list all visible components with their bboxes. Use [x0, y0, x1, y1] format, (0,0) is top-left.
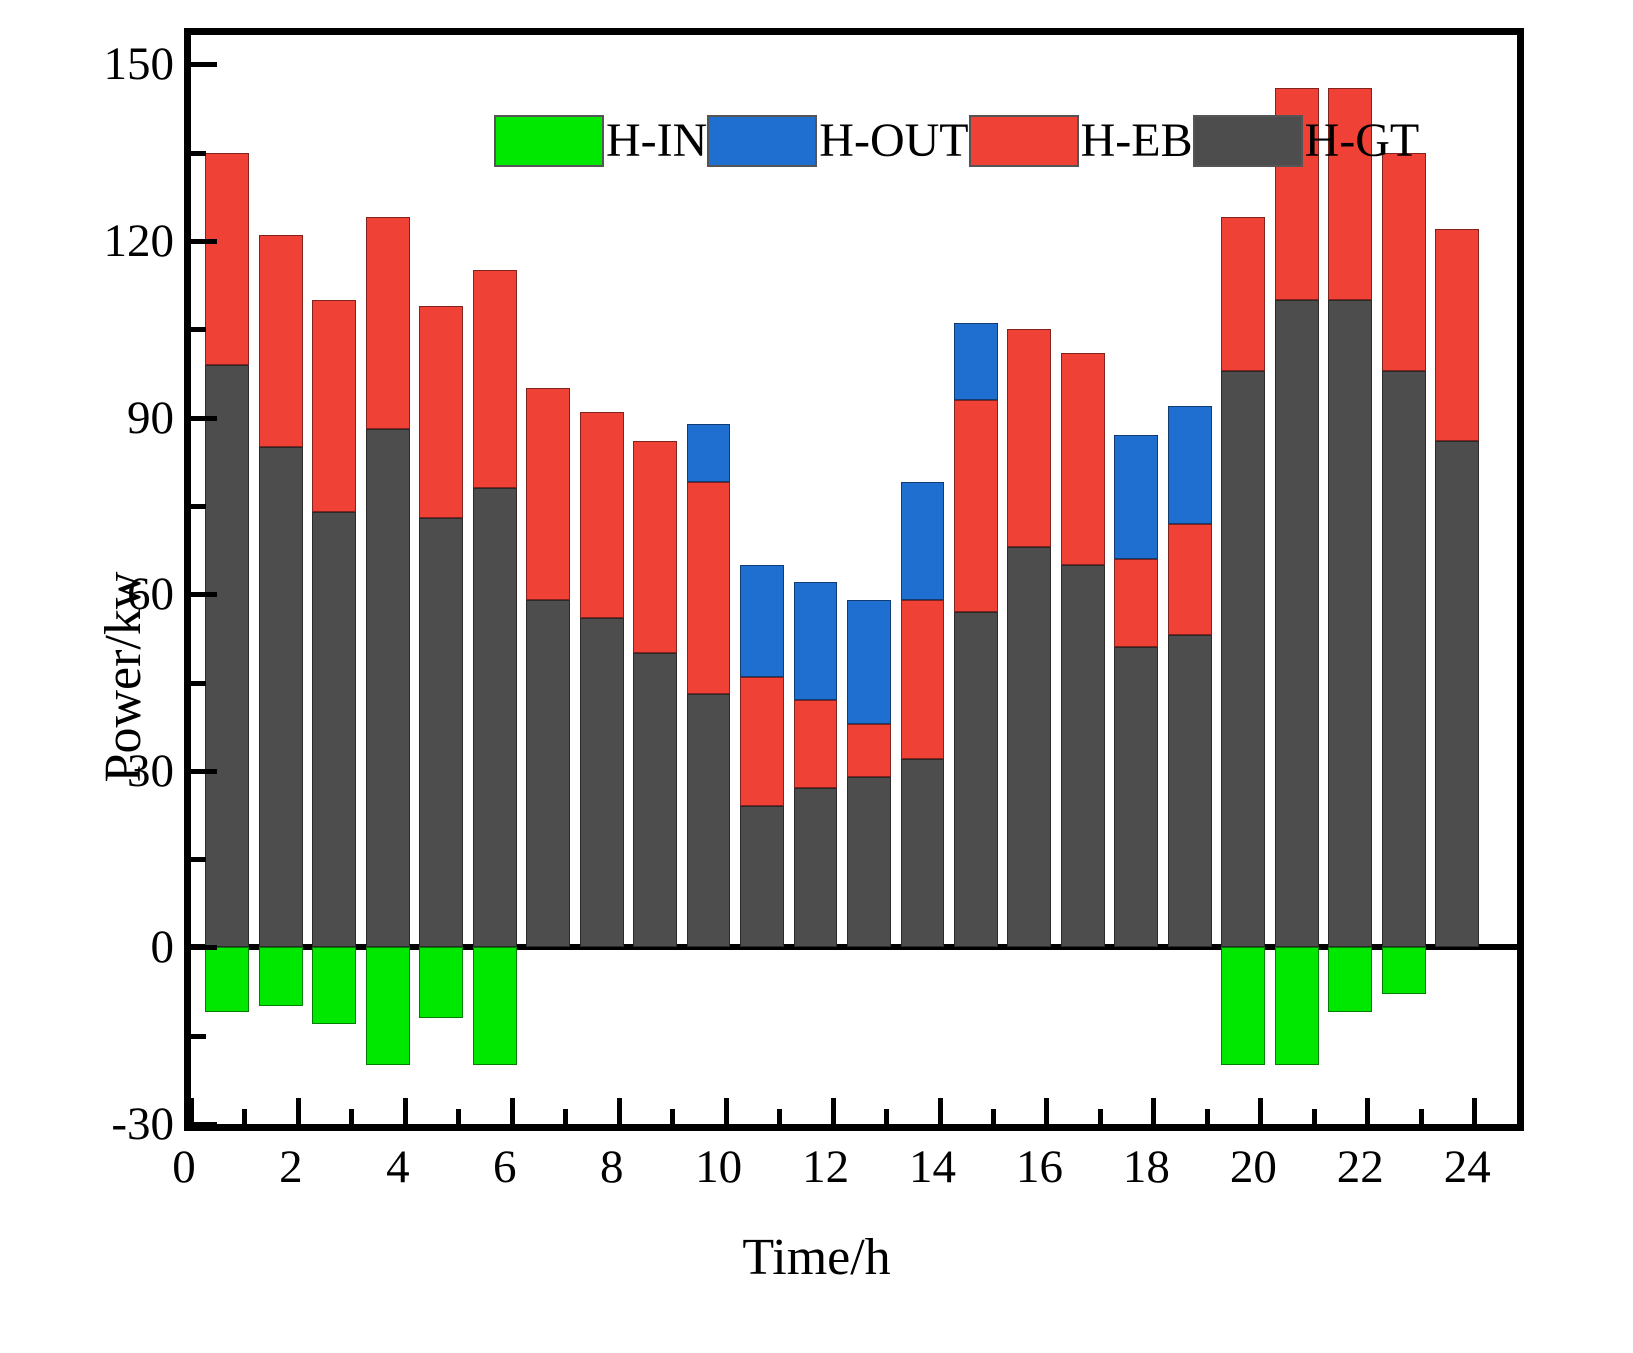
legend-item[interactable]: H-GT: [1193, 113, 1420, 169]
bar-segment-h-eb[interactable]: [366, 217, 410, 429]
x-tick-label: 8: [600, 1140, 624, 1194]
bar-segment-h-in[interactable]: [473, 947, 517, 1065]
bar-segment-h-gt[interactable]: [312, 512, 356, 948]
bar-segment-h-out[interactable]: [901, 482, 945, 600]
bar-segment-h-eb[interactable]: [794, 700, 838, 788]
plot-inner: [191, 35, 1517, 1124]
bar-segment-h-eb[interactable]: [687, 482, 731, 694]
bar-segment-h-eb[interactable]: [312, 300, 356, 512]
y-tick-label: 60: [127, 567, 174, 621]
x-tick-major: [510, 1098, 515, 1124]
x-tick-major: [1258, 1098, 1263, 1124]
bar-group[interactable]: [794, 35, 838, 1124]
bar-segment-h-in[interactable]: [259, 947, 303, 1006]
plot-area: H-INH-OUTH-EBH-GT: [184, 28, 1524, 1131]
y-tick-major: [191, 592, 217, 597]
x-tick-minor: [456, 1109, 461, 1124]
x-tick-minor: [670, 1109, 675, 1124]
legend-swatch-h-gt: [1193, 115, 1303, 167]
x-tick-minor: [563, 1109, 568, 1124]
x-tick-label: 24: [1444, 1140, 1491, 1194]
bar-segment-h-gt[interactable]: [1007, 547, 1051, 947]
x-axis-tick-labels: 024681012141618202224: [184, 1140, 1524, 1200]
bar-segment-h-gt[interactable]: [1328, 300, 1372, 948]
bar-segment-h-gt[interactable]: [1114, 647, 1158, 947]
x-tick-minor: [991, 1109, 996, 1124]
bar-segment-h-out[interactable]: [847, 600, 891, 724]
x-tick-label: 14: [909, 1140, 956, 1194]
bar-group[interactable]: [1007, 35, 1051, 1124]
bar-segment-h-eb[interactable]: [740, 677, 784, 807]
bar-group[interactable]: [847, 35, 891, 1124]
bar-segment-h-gt[interactable]: [1221, 371, 1265, 948]
bar-segment-h-gt[interactable]: [633, 653, 677, 947]
bar-segment-h-gt[interactable]: [526, 600, 570, 947]
bar-segment-h-eb[interactable]: [1007, 329, 1051, 547]
y-tick-label: 120: [104, 214, 175, 268]
x-tick-label: 6: [493, 1140, 517, 1194]
bar-group[interactable]: [633, 35, 677, 1124]
y-tick-minor: [191, 681, 206, 686]
bar-segment-h-gt[interactable]: [1061, 565, 1105, 948]
bar-segment-h-gt[interactable]: [687, 694, 731, 947]
x-tick-minor: [777, 1109, 782, 1124]
legend-label: H-GT: [1303, 117, 1420, 165]
bar-group[interactable]: [526, 35, 570, 1124]
bar-segment-h-eb[interactable]: [1382, 153, 1426, 371]
bar-group[interactable]: [901, 35, 945, 1124]
x-tick-major: [938, 1098, 943, 1124]
y-tick-minor: [191, 327, 206, 332]
bar-group[interactable]: [473, 35, 517, 1124]
bar-segment-h-in[interactable]: [1382, 947, 1426, 994]
x-tick-minor: [242, 1109, 247, 1124]
y-tick-major: [191, 945, 217, 950]
x-tick-major: [831, 1098, 836, 1124]
y-tick-major: [191, 62, 217, 67]
y-tick-major: [191, 1122, 217, 1127]
bar-segment-h-gt[interactable]: [1435, 441, 1479, 947]
bar-group[interactable]: [1328, 35, 1372, 1124]
y-tick-minor: [191, 151, 206, 156]
bar-segment-h-gt[interactable]: [419, 518, 463, 948]
y-tick-major: [191, 769, 217, 774]
x-tick-minor: [349, 1109, 354, 1124]
bar-segment-h-eb[interactable]: [259, 235, 303, 447]
bar-segment-h-gt[interactable]: [580, 618, 624, 948]
legend-swatch-h-in: [494, 115, 604, 167]
legend-swatch-h-out: [707, 115, 817, 167]
bar-segment-h-eb[interactable]: [1114, 559, 1158, 647]
bar-group[interactable]: [1435, 35, 1479, 1124]
x-tick-major: [189, 1098, 194, 1124]
bar-segment-h-out[interactable]: [794, 582, 838, 700]
bar-group[interactable]: [1061, 35, 1105, 1124]
bar-group[interactable]: [1275, 35, 1319, 1124]
x-tick-major: [724, 1098, 729, 1124]
bar-segment-h-eb[interactable]: [473, 270, 517, 488]
x-tick-major: [1044, 1098, 1049, 1124]
x-tick-label: 20: [1230, 1140, 1277, 1194]
x-tick-minor: [1205, 1109, 1210, 1124]
bar-segment-h-out[interactable]: [1168, 406, 1212, 524]
y-tick-minor: [191, 857, 206, 862]
y-tick-label: 0: [151, 920, 175, 974]
bar-segment-h-eb[interactable]: [901, 600, 945, 759]
x-tick-minor: [1098, 1109, 1103, 1124]
bar-segment-h-gt[interactable]: [794, 788, 838, 947]
legend-swatch-h-eb: [969, 115, 1079, 167]
y-tick-label: -30: [111, 1097, 174, 1151]
bar-segment-h-out[interactable]: [687, 424, 731, 483]
bar-segment-h-gt[interactable]: [1275, 300, 1319, 948]
bar-segment-h-gt[interactable]: [366, 429, 410, 947]
x-tick-label: 22: [1337, 1140, 1384, 1194]
legend-item[interactable]: H-OUT: [707, 113, 968, 169]
x-tick-label: 10: [695, 1140, 742, 1194]
bar-segment-h-in[interactable]: [1221, 947, 1265, 1065]
y-axis-tick-labels: -300306090120150: [0, 28, 174, 1131]
bar-group[interactable]: [419, 35, 463, 1124]
y-tick-major: [191, 239, 217, 244]
y-tick-minor: [191, 504, 206, 509]
bar-segment-h-eb[interactable]: [1435, 229, 1479, 441]
bar-segment-h-in[interactable]: [205, 947, 249, 1012]
bar-segment-h-out[interactable]: [954, 323, 998, 400]
bar-group[interactable]: [1221, 35, 1265, 1124]
bar-segment-h-out[interactable]: [740, 565, 784, 677]
bar-segment-h-in[interactable]: [419, 947, 463, 1018]
bar-segment-h-in[interactable]: [366, 947, 410, 1065]
bar-group[interactable]: [312, 35, 356, 1124]
legend-item[interactable]: H-IN: [494, 113, 707, 169]
bar-segment-h-gt[interactable]: [205, 365, 249, 948]
chart-legend: H-INH-OUTH-EBH-GT: [494, 113, 1419, 169]
bar-group[interactable]: [259, 35, 303, 1124]
bar-segment-h-in[interactable]: [1328, 947, 1372, 1012]
legend-label: H-OUT: [817, 117, 968, 165]
bar-segment-h-eb[interactable]: [954, 400, 998, 612]
x-tick-label: 2: [279, 1140, 303, 1194]
x-tick-minor: [884, 1109, 889, 1124]
bar-segment-h-eb[interactable]: [1168, 524, 1212, 636]
y-tick-label: 30: [127, 744, 174, 798]
bar-group[interactable]: [687, 35, 731, 1124]
x-tick-major: [296, 1098, 301, 1124]
x-tick-minor: [1312, 1109, 1317, 1124]
legend-label: H-IN: [604, 117, 707, 165]
bar-group[interactable]: [366, 35, 410, 1124]
bar-segment-h-gt[interactable]: [259, 447, 303, 947]
bar-group[interactable]: [1168, 35, 1212, 1124]
bar-segment-h-eb[interactable]: [580, 412, 624, 618]
bar-segment-h-eb[interactable]: [1061, 353, 1105, 565]
bar-segment-h-eb[interactable]: [526, 388, 570, 600]
x-tick-major: [617, 1098, 622, 1124]
bar-group[interactable]: [740, 35, 784, 1124]
bar-segment-h-gt[interactable]: [1382, 371, 1426, 948]
legend-label: H-EB: [1079, 117, 1193, 165]
bar-segment-h-gt[interactable]: [954, 612, 998, 948]
bar-segment-h-gt[interactable]: [901, 759, 945, 947]
bar-segment-h-eb[interactable]: [419, 306, 463, 518]
y-tick-label: 90: [127, 391, 174, 445]
bar-group[interactable]: [580, 35, 624, 1124]
bar-segment-h-eb[interactable]: [205, 153, 249, 365]
x-tick-major: [1472, 1098, 1477, 1124]
bar-segment-h-gt[interactable]: [740, 806, 784, 947]
x-tick-minor: [1419, 1109, 1424, 1124]
x-tick-label: 16: [1016, 1140, 1063, 1194]
x-tick-label: 0: [172, 1140, 196, 1194]
x-tick-major: [1365, 1098, 1370, 1124]
chart-figure: Power/kw -300306090120150 H-INH-OUTH-EBH…: [0, 0, 1633, 1353]
y-tick-minor: [191, 1034, 206, 1039]
y-tick-label: 150: [104, 37, 175, 91]
bar-segment-h-in[interactable]: [312, 947, 356, 1024]
bar-segment-h-gt[interactable]: [847, 777, 891, 948]
x-axis-title: Time/h: [0, 1228, 1633, 1287]
bar-segment-h-eb[interactable]: [633, 441, 677, 653]
bar-segment-h-out[interactable]: [1114, 435, 1158, 559]
bar-segment-h-gt[interactable]: [473, 488, 517, 947]
x-tick-major: [1151, 1098, 1156, 1124]
legend-item[interactable]: H-EB: [969, 113, 1193, 169]
y-tick-major: [191, 416, 217, 421]
bar-segment-h-eb[interactable]: [1221, 217, 1265, 370]
bar-group[interactable]: [1382, 35, 1426, 1124]
bar-group[interactable]: [205, 35, 249, 1124]
x-tick-major: [403, 1098, 408, 1124]
x-tick-label: 4: [386, 1140, 410, 1194]
bar-segment-h-in[interactable]: [1275, 947, 1319, 1065]
x-tick-label: 18: [1123, 1140, 1170, 1194]
bar-group[interactable]: [1114, 35, 1158, 1124]
x-tick-label: 12: [802, 1140, 849, 1194]
bar-segment-h-gt[interactable]: [1168, 635, 1212, 947]
bar-group[interactable]: [954, 35, 998, 1124]
bar-segment-h-eb[interactable]: [847, 724, 891, 777]
